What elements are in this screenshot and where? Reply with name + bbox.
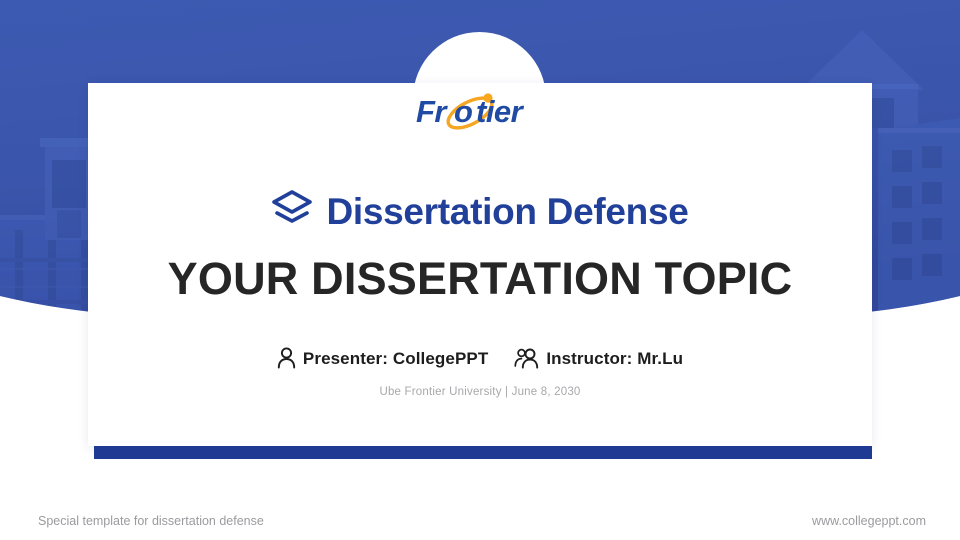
heading-row: Dissertation Defense xyxy=(0,190,960,233)
presenter-label: Presenter: CollegePPT xyxy=(303,349,488,369)
svg-text:tier: tier xyxy=(476,94,525,129)
heading-title: Dissertation Defense xyxy=(326,191,688,233)
graduation-cap-icon xyxy=(271,189,313,232)
two-people-icon xyxy=(514,347,539,369)
brand-logo: Fr tier o xyxy=(0,88,960,136)
university-date-line: Ube Frontier University | June 8, 2030 xyxy=(0,386,960,398)
footer-left-text: Special template for dissertation defens… xyxy=(38,514,264,528)
card-bottom-accent-bar xyxy=(94,446,872,459)
presenter-item: Presenter: CollegePPT xyxy=(277,348,488,370)
single-person-icon xyxy=(277,347,296,369)
people-row: Presenter: CollegePPT Instructor: Mr.Lu xyxy=(0,348,960,370)
slide-canvas: Fr tier o Dissertation Defense YOUR DISS… xyxy=(0,0,960,540)
frontier-logo-icon: Fr tier o xyxy=(414,88,546,134)
svg-text:Fr: Fr xyxy=(416,94,448,129)
dissertation-topic: YOUR DISSERTATION TOPIC xyxy=(0,253,960,305)
footer-right-url: www.collegeppt.com xyxy=(812,514,926,528)
svg-text:o: o xyxy=(454,94,473,129)
instructor-label: Instructor: Mr.Lu xyxy=(546,349,683,369)
instructor-item: Instructor: Mr.Lu xyxy=(514,348,683,370)
